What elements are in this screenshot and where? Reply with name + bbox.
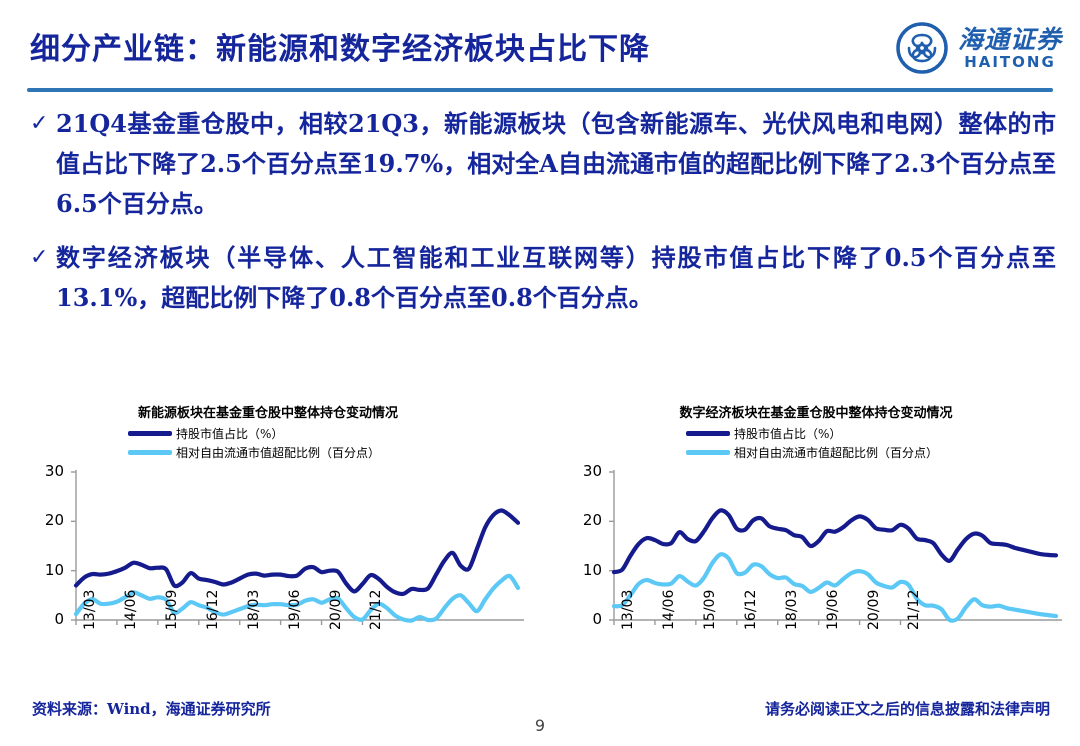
legend-entry: 持股市值占比（%） xyxy=(686,424,938,443)
y-axis-tick-label: 20 xyxy=(30,511,64,529)
y-axis-tick-label: 10 xyxy=(30,561,64,579)
page-title: 细分产业链：新能源和数字经济板块占比下降 xyxy=(30,24,650,68)
check-icon: ✓ xyxy=(30,104,56,144)
header-divider xyxy=(27,88,1053,92)
slide-header: 细分产业链：新能源和数字经济板块占比下降 海通 xyxy=(0,0,1080,96)
x-axis-tick-label: 14/06 xyxy=(123,590,139,630)
chart-legend: 持股市值占比（%） 相对自由流通市值超配比例（百分点） xyxy=(686,424,938,462)
legend-entry: 持股市值占比（%） xyxy=(128,424,380,443)
y-axis-tick-label: 10 xyxy=(568,561,602,579)
chart-series-line xyxy=(614,510,1056,572)
check-icon: ✓ xyxy=(30,238,56,278)
x-axis-tick-label: 14/06 xyxy=(661,590,677,630)
legend-label-series-1: 相对自由流通市值超配比例（百分点） xyxy=(176,444,380,461)
legend-swatch-series-1 xyxy=(128,450,172,455)
x-axis-tick-label: 21/12 xyxy=(368,590,384,630)
chart-new-energy: 新能源板块在基金重仓股中整体持仓变动情况 持股市值占比（%） 相对自由流通市值超… xyxy=(18,396,538,686)
bullet-text: 数字经济板块（半导体、人工智能和工业互联网等）持股市值占比下降了0.5个百分点至… xyxy=(56,238,1056,318)
x-axis-tick-label: 18/03 xyxy=(784,590,800,630)
company-logo: 海通证券 HAITONG xyxy=(896,22,1062,74)
y-axis-tick-label: 0 xyxy=(30,610,64,628)
bullet-text: 21Q4基金重仓股中，相较21Q3，新能源板块（包含新能源车、光伏风电和电网）整… xyxy=(56,104,1056,224)
legend-label-series-0: 持股市值占比（%） xyxy=(176,425,283,442)
logo-wordmark: 海通证券 HAITONG xyxy=(958,27,1062,70)
x-axis-tick-label: 15/09 xyxy=(164,590,180,630)
legend-label-series-1: 相对自由流通市值超配比例（百分点） xyxy=(734,444,938,461)
legend-entry: 相对自由流通市值超配比例（百分点） xyxy=(128,443,380,462)
chart-plot-area: 010203013/0314/0615/0916/1218/0319/0620/… xyxy=(556,462,1076,686)
x-axis-tick-label: 13/03 xyxy=(620,590,636,630)
charts-area: 新能源板块在基金重仓股中整体持仓变动情况 持股市值占比（%） 相对自由流通市值超… xyxy=(0,396,1080,686)
chart-title: 新能源板块在基金重仓股中整体持仓变动情况 xyxy=(18,402,538,421)
x-axis-tick-label: 21/12 xyxy=(906,590,922,630)
logo-chinese-name: 海通证券 xyxy=(958,27,1062,52)
legend-swatch-series-1 xyxy=(686,450,730,455)
y-axis-tick-label: 0 xyxy=(568,610,602,628)
bullet-item: ✓ 数字经济板块（半导体、人工智能和工业互联网等）持股市值占比下降了0.5个百分… xyxy=(30,238,1056,318)
chart-digital-economy: 数字经济板块在基金重仓股中整体持仓变动情况 持股市值占比（%） 相对自由流通市值… xyxy=(556,396,1076,686)
x-axis-tick-label: 19/06 xyxy=(825,590,841,630)
chart-legend: 持股市值占比（%） 相对自由流通市值超配比例（百分点） xyxy=(128,424,380,462)
x-axis-tick-label: 19/06 xyxy=(287,590,303,630)
x-axis-tick-label: 15/09 xyxy=(702,590,718,630)
legend-swatch-series-0 xyxy=(128,431,172,436)
bullet-list: ✓ 21Q4基金重仓股中，相较21Q3，新能源板块（包含新能源车、光伏风电和电网… xyxy=(30,104,1056,332)
x-axis-tick-label: 16/12 xyxy=(205,590,221,630)
legend-entry: 相对自由流通市值超配比例（百分点） xyxy=(686,443,938,462)
slide-root: 细分产业链：新能源和数字经济板块占比下降 海通 xyxy=(0,0,1080,746)
haitong-emblem-icon xyxy=(896,22,948,74)
y-axis-tick-label: 20 xyxy=(568,511,602,529)
bullet-item: ✓ 21Q4基金重仓股中，相较21Q3，新能源板块（包含新能源车、光伏风电和电网… xyxy=(30,104,1056,224)
x-axis-tick-label: 20/09 xyxy=(866,590,882,630)
legend-label-series-0: 持股市值占比（%） xyxy=(734,425,841,442)
y-axis-tick-label: 30 xyxy=(568,462,602,480)
y-axis-tick-label: 30 xyxy=(30,462,64,480)
chart-title: 数字经济板块在基金重仓股中整体持仓变动情况 xyxy=(556,402,1076,421)
x-axis-tick-label: 16/12 xyxy=(743,590,759,630)
page-number: 9 xyxy=(0,716,1080,735)
x-axis-tick-label: 20/09 xyxy=(328,590,344,630)
chart-plot-area: 010203013/0314/0615/0916/1218/0319/0620/… xyxy=(18,462,538,686)
x-axis-tick-label: 13/03 xyxy=(82,590,98,630)
slide-footer: 资料来源：Wind，海通证券研究所 请务必阅读正文之后的信息披露和法律声明 9 xyxy=(0,690,1080,746)
chart-series-line xyxy=(76,510,518,594)
legend-swatch-series-0 xyxy=(686,431,730,436)
logo-english-name: HAITONG xyxy=(964,55,1056,70)
x-axis-tick-label: 18/03 xyxy=(246,590,262,630)
